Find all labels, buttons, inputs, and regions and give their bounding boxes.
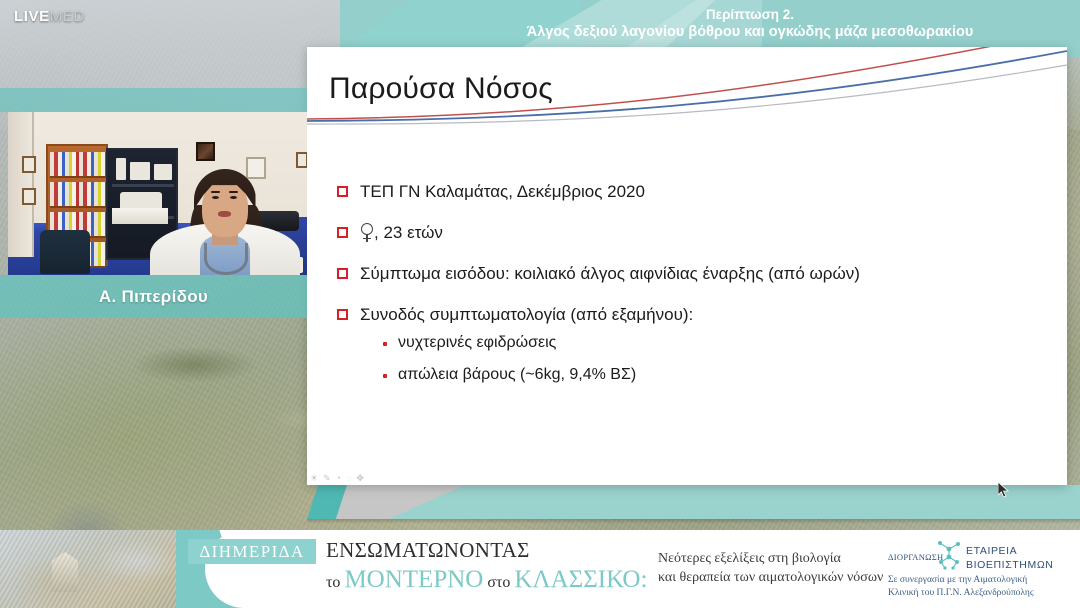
sub-bullet-item: απώλεια βάρους (~6kg, 9,4% ΒΣ) bbox=[383, 366, 1047, 384]
footer-word-sto: στο bbox=[483, 574, 514, 591]
footer-word-classic: ΚΛΑΣΣΙΚΟ bbox=[514, 566, 640, 593]
bullet-item: ΤΕΠ ΓΝ Καλαμάτας, Δεκέμβριος 2020 bbox=[337, 181, 1047, 203]
footer-word-to: το bbox=[326, 574, 344, 591]
wall-frame-2 bbox=[22, 188, 36, 205]
control-icon-1[interactable]: ☀ bbox=[310, 474, 318, 483]
webcam-top-band bbox=[0, 88, 307, 112]
brand-med-text: MED bbox=[50, 8, 85, 25]
slide-bottom-strip bbox=[307, 485, 1080, 523]
square-bullet-icon bbox=[337, 309, 348, 320]
webcam-scene bbox=[8, 112, 307, 275]
sub-bullet-item: νυχτερινές εφιδρώσεις bbox=[383, 334, 1047, 352]
sub-bullet-list: νυχτερινές εφιδρώσεις απώλεια βάρους (~6… bbox=[383, 334, 1047, 384]
dot-bullet-icon bbox=[383, 374, 387, 378]
control-icon-5[interactable]: ✥ bbox=[356, 474, 364, 483]
biosciences-molecule-icon bbox=[936, 540, 962, 570]
bullet-text: , 23 ετών bbox=[374, 223, 443, 242]
footer-title-line1: ΕΝΣΩΜΑΤΩΝΟΝΤΑΣ bbox=[326, 538, 656, 563]
slideshow-controls[interactable]: ☀ ✎ ◔ ◌ ✥ bbox=[310, 474, 364, 483]
event-footer-banner: ΔΙΗΜΕΡΙΔΑ ΕΝΣΩΜΑΤΩΝΟΝΤΑΣ το ΜΟΝΤΕΡΝΟ στο… bbox=[0, 530, 1080, 608]
footer-word-modern: ΜΟΝΤΕΡΝΟ bbox=[344, 566, 483, 593]
footer-event-badge: ΔΙΗΜΕΡΙΔΑ bbox=[188, 539, 316, 564]
footer-artwork bbox=[0, 530, 196, 608]
bullet-text: Συνοδός συμπτωματολογία (από εξαμήνου): bbox=[360, 304, 693, 326]
bullet-text-with-gender: , 23 ετών bbox=[360, 222, 443, 244]
slide-body: ΤΕΠ ΓΝ Καλαμάτας, Δεκέμβριος 2020 , 23 ε… bbox=[337, 181, 1047, 398]
bullet-text: Σύμπτωμα εισόδου: κοιλιακό άλγος αιφνίδι… bbox=[360, 263, 860, 285]
webcam-video[interactable] bbox=[8, 112, 307, 275]
bullet-item: Συνοδός συμπτωματολογία (από εξαμήνου): bbox=[337, 304, 1047, 326]
sub-bullet-text: νυχτερινές εφιδρώσεις bbox=[398, 334, 556, 352]
footer-cooperation-block: Σε συνεργασία με την Αιματολογική Κλινικ… bbox=[888, 574, 1078, 601]
footer-organizer-block: ΔΙΟΡΓΑΝΩΣΗ ΕΤΑΙΡΕΙΑ ΒΙΟΕΠΙΣΤΗΜΩΝ Σε συνε… bbox=[888, 538, 1080, 602]
square-bullet-icon bbox=[337, 186, 348, 197]
livemed-logo: LIVEMED bbox=[14, 8, 85, 25]
footer-colon: : bbox=[640, 566, 647, 593]
slide-decorative-curves bbox=[307, 47, 1067, 177]
footer-coop-line1: Σε συνεργασία με την Αιματολογική bbox=[888, 574, 1078, 587]
presentation-viewer: LIVEMED Περίπτωση 2. Άλγος δεξιού λαγονί… bbox=[0, 0, 1080, 608]
wall-frame-1 bbox=[22, 156, 36, 173]
bullet-item: Σύμπτωμα εισόδου: κοιλιακό άλγος αιφνίδι… bbox=[337, 263, 1047, 285]
footer-logo-line1: ΕΤΑΙΡΕΙΑ bbox=[966, 544, 1053, 558]
speaker-name-bar: Α. Πιπερίδου bbox=[0, 275, 307, 318]
speaker-webcam-tile[interactable]: Α. Πιπερίδου bbox=[0, 88, 307, 323]
footer-title-line2: το ΜΟΝΤΕΡΝΟ στο ΚΛΑΣΣΙΚΟ: bbox=[326, 566, 656, 594]
slide-title: Παρούσα Νόσος bbox=[329, 72, 553, 106]
control-icon-4[interactable]: ◌ bbox=[346, 474, 351, 483]
room-door bbox=[8, 112, 34, 257]
square-bullet-icon bbox=[337, 227, 348, 238]
footer-subtitle-line1: Νεότερες εξελίξεις στη βιολογία bbox=[658, 550, 888, 569]
brand-live-text: LIVE bbox=[14, 8, 50, 25]
strip-teal-shape bbox=[389, 485, 1080, 519]
strip-shadow bbox=[307, 519, 1080, 523]
footer-logo-text: ΕΤΑΙΡΕΙΑ ΒΙΟΕΠΙΣΤΗΜΩΝ bbox=[966, 544, 1053, 572]
dot-bullet-icon bbox=[383, 342, 387, 346]
speaker-person bbox=[150, 157, 300, 275]
footer-tower-shape bbox=[52, 552, 78, 592]
control-icon-3[interactable]: ◔ bbox=[336, 474, 341, 483]
footer-coop-line2: Κλινική του Π.Γ.Ν. Αλεξανδρούπολης bbox=[888, 587, 1078, 600]
sub-bullet-text: απώλεια βάρους (~6kg, 9,4% ΒΣ) bbox=[398, 366, 636, 384]
slide-content[interactable]: Παρούσα Νόσος ΤΕΠ ΓΝ Καλαμάτας, Δεκέμβρι… bbox=[307, 47, 1067, 485]
footer-badge-label: ΔΙΗΜΕΡΙΔΑ bbox=[199, 542, 304, 562]
venus-female-icon bbox=[360, 223, 374, 242]
bullet-text: ΤΕΠ ΓΝ Καλαμάτας, Δεκέμβριος 2020 bbox=[360, 181, 645, 203]
control-icon-2[interactable]: ✎ bbox=[323, 474, 331, 483]
footer-title-block: ΕΝΣΩΜΑΤΩΝΟΝΤΑΣ το ΜΟΝΤΕΡΝΟ στο ΚΛΑΣΣΙΚΟ: bbox=[326, 538, 656, 594]
bullet-item: , 23 ετών bbox=[337, 222, 1047, 244]
footer-subtitle-block: Νεότερες εξελίξεις στη βιολογία και θερα… bbox=[658, 550, 888, 588]
office-chair bbox=[40, 230, 90, 274]
speaker-name-label: Α. Πιπερίδου bbox=[99, 287, 208, 307]
square-bullet-icon bbox=[337, 268, 348, 279]
footer-subtitle-line2: και θεραπεία των αιματολογικών νόσων bbox=[658, 569, 888, 588]
footer-logo-line2: ΒΙΟΕΠΙΣΤΗΜΩΝ bbox=[966, 558, 1053, 572]
